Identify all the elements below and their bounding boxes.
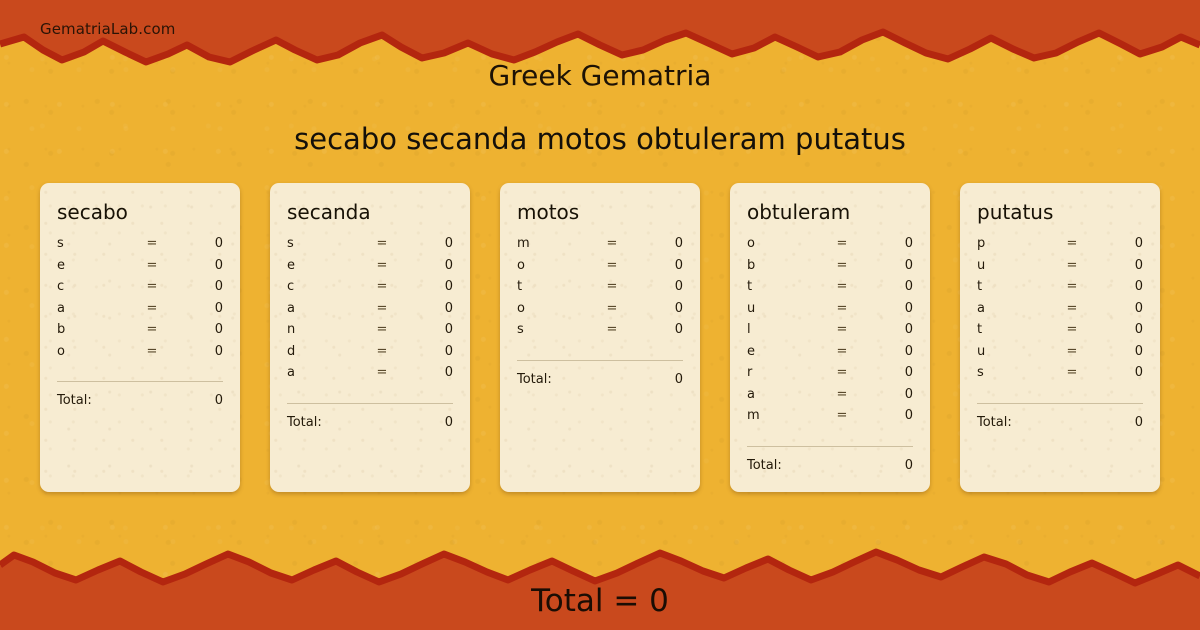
letter-label: m [517, 236, 595, 251]
letter-label: o [747, 236, 825, 251]
equals-sign: = [825, 365, 859, 380]
letter-label: s [977, 365, 1055, 380]
card-total-value: 0 [1135, 415, 1143, 430]
equals-sign: = [365, 301, 399, 316]
letter-label: n [287, 322, 365, 337]
letter-value: 0 [169, 322, 223, 337]
letter-value-row: d=0 [287, 344, 453, 366]
letter-label: l [747, 322, 825, 337]
letter-value-row: s=0 [57, 236, 223, 258]
letter-label: o [517, 301, 595, 316]
letter-value-row: p=0 [977, 236, 1143, 258]
letter-label: t [747, 279, 825, 294]
letter-label: o [517, 258, 595, 273]
letter-value-row: n=0 [287, 322, 453, 344]
letter-label: u [747, 301, 825, 316]
letter-value-row: o=0 [747, 236, 913, 258]
card-inner: putatusp=0u=0t=0a=0t=0u=0s=0Total:0 [977, 201, 1143, 430]
letter-label: t [977, 279, 1055, 294]
letter-label: a [57, 301, 135, 316]
card-total-label: Total: [287, 415, 322, 430]
page-title: Greek Gematria [0, 59, 1200, 92]
letter-value-row: a=0 [287, 365, 453, 387]
card-total-label: Total: [747, 458, 782, 473]
letter-value-row: a=0 [57, 301, 223, 323]
equals-sign: = [1055, 322, 1089, 337]
card-spacer [57, 365, 223, 373]
equals-sign: = [595, 279, 629, 294]
equals-sign: = [135, 344, 169, 359]
letter-value-rows: s=0e=0c=0a=0b=0o=0 [57, 236, 223, 365]
letter-value: 0 [859, 365, 913, 380]
letter-value-row: u=0 [977, 344, 1143, 366]
letter-label: e [57, 258, 135, 273]
letter-label: s [57, 236, 135, 251]
card-inner: secabos=0e=0c=0a=0b=0o=0Total:0 [57, 201, 223, 408]
letter-value: 0 [859, 408, 913, 423]
letter-value: 0 [1089, 236, 1143, 251]
equals-sign: = [1055, 258, 1089, 273]
letter-value: 0 [1089, 279, 1143, 294]
equals-sign: = [365, 344, 399, 359]
letter-value-row: m=0 [747, 408, 913, 430]
card-spacer [977, 387, 1143, 395]
equals-sign: = [825, 344, 859, 359]
letter-label: r [747, 365, 825, 380]
equals-sign: = [1055, 365, 1089, 380]
card-total-row: Total:0 [747, 447, 913, 473]
equals-sign: = [135, 236, 169, 251]
letter-label: t [977, 322, 1055, 337]
word-card: obtuleramo=0b=0t=0u=0l=0e=0r=0a=0m=0Tota… [730, 183, 930, 492]
letter-label: b [747, 258, 825, 273]
card-word-title: secanda [287, 201, 453, 223]
equals-sign: = [1055, 236, 1089, 251]
card-spacer [517, 344, 683, 352]
letter-label: e [747, 344, 825, 359]
letter-label: e [287, 258, 365, 273]
letter-label: t [517, 279, 595, 294]
letter-value: 0 [859, 258, 913, 273]
card-word-title: obtuleram [747, 201, 913, 223]
letter-label: c [287, 279, 365, 294]
card-spacer [287, 387, 453, 395]
word-card: secandas=0e=0c=0a=0n=0d=0a=0Total:0 [270, 183, 470, 492]
letter-value: 0 [1089, 258, 1143, 273]
letter-value-row: s=0 [977, 365, 1143, 387]
word-card-list: secabos=0e=0c=0a=0b=0o=0Total:0secandas=… [40, 183, 1160, 492]
equals-sign: = [825, 387, 859, 402]
letter-label: d [287, 344, 365, 359]
card-inner: obtuleramo=0b=0t=0u=0l=0e=0r=0a=0m=0Tota… [747, 201, 913, 473]
letter-value-row: t=0 [977, 322, 1143, 344]
card-word-title: motos [517, 201, 683, 223]
letter-value-row: a=0 [977, 301, 1143, 323]
letter-value: 0 [629, 322, 683, 337]
equals-sign: = [365, 236, 399, 251]
letter-value: 0 [859, 279, 913, 294]
letter-value: 0 [859, 301, 913, 316]
letter-label: b [57, 322, 135, 337]
equals-sign: = [595, 301, 629, 316]
card-word-title: secabo [57, 201, 223, 223]
letter-label: a [747, 387, 825, 402]
equals-sign: = [595, 258, 629, 273]
equals-sign: = [825, 301, 859, 316]
equals-sign: = [1055, 301, 1089, 316]
card-total-row: Total:0 [287, 404, 453, 430]
letter-value: 0 [399, 365, 453, 380]
letter-value-row: e=0 [57, 258, 223, 280]
card-total-label: Total: [977, 415, 1012, 430]
equals-sign: = [825, 279, 859, 294]
card-total-value: 0 [215, 393, 223, 408]
site-logo[interactable]: GematriaLab.com [40, 20, 175, 38]
letter-value-row: u=0 [977, 258, 1143, 280]
card-total-row: Total:0 [977, 404, 1143, 430]
equals-sign: = [825, 408, 859, 423]
letter-value-row: m=0 [517, 236, 683, 258]
equals-sign: = [1055, 344, 1089, 359]
letter-value: 0 [859, 236, 913, 251]
equals-sign: = [135, 322, 169, 337]
word-card: motosm=0o=0t=0o=0s=0Total:0 [500, 183, 700, 492]
card-total-label: Total: [517, 372, 552, 387]
letter-value: 0 [399, 322, 453, 337]
letter-value-row: c=0 [57, 279, 223, 301]
letter-value-row: o=0 [517, 301, 683, 323]
card-inner: secandas=0e=0c=0a=0n=0d=0a=0Total:0 [287, 201, 453, 430]
letter-value-row: b=0 [57, 322, 223, 344]
equals-sign: = [135, 279, 169, 294]
letter-value-row: a=0 [747, 387, 913, 409]
letter-value: 0 [169, 258, 223, 273]
letter-value: 0 [629, 236, 683, 251]
letter-value: 0 [859, 322, 913, 337]
letter-value: 0 [399, 279, 453, 294]
letter-value-row: o=0 [517, 258, 683, 280]
letter-value-rows: o=0b=0t=0u=0l=0e=0r=0a=0m=0 [747, 236, 913, 430]
grand-total: Total = 0 [0, 583, 1200, 619]
word-card: putatusp=0u=0t=0a=0t=0u=0s=0Total:0 [960, 183, 1160, 492]
letter-label: a [287, 365, 365, 380]
letter-value: 0 [1089, 344, 1143, 359]
letter-label: s [287, 236, 365, 251]
letter-value-rows: m=0o=0t=0o=0s=0 [517, 236, 683, 344]
card-total-value: 0 [445, 415, 453, 430]
equals-sign: = [1055, 279, 1089, 294]
equals-sign: = [365, 258, 399, 273]
letter-label: c [57, 279, 135, 294]
letter-value-row: e=0 [287, 258, 453, 280]
equals-sign: = [595, 322, 629, 337]
letter-label: o [57, 344, 135, 359]
letter-value-row: l=0 [747, 322, 913, 344]
letter-label: a [287, 301, 365, 316]
letter-label: p [977, 236, 1055, 251]
gematria-page: GematriaLab.com Greek Gematria secabo se… [0, 0, 1200, 630]
word-card: secabos=0e=0c=0a=0b=0o=0Total:0 [40, 183, 240, 492]
equals-sign: = [825, 322, 859, 337]
letter-value: 0 [1089, 365, 1143, 380]
letter-value: 0 [629, 258, 683, 273]
letter-value-rows: p=0u=0t=0a=0t=0u=0s=0 [977, 236, 1143, 387]
equals-sign: = [365, 322, 399, 337]
letter-value-row: t=0 [517, 279, 683, 301]
card-word-title: putatus [977, 201, 1143, 223]
letter-value-row: r=0 [747, 365, 913, 387]
equals-sign: = [365, 365, 399, 380]
card-total-label: Total: [57, 393, 92, 408]
letter-value-row: b=0 [747, 258, 913, 280]
letter-value: 0 [399, 301, 453, 316]
letter-value: 0 [629, 301, 683, 316]
letter-value-row: s=0 [517, 322, 683, 344]
letter-value: 0 [399, 344, 453, 359]
letter-label: u [977, 258, 1055, 273]
letter-value-row: a=0 [287, 301, 453, 323]
equals-sign: = [825, 236, 859, 251]
letter-label: s [517, 322, 595, 337]
letter-value: 0 [169, 301, 223, 316]
letter-value: 0 [859, 387, 913, 402]
letter-value-row: u=0 [747, 301, 913, 323]
letter-value: 0 [169, 279, 223, 294]
letter-value-row: c=0 [287, 279, 453, 301]
letter-value-row: t=0 [747, 279, 913, 301]
letter-value: 0 [629, 279, 683, 294]
equals-sign: = [135, 258, 169, 273]
card-total-value: 0 [675, 372, 683, 387]
letter-value: 0 [169, 344, 223, 359]
letter-value-rows: s=0e=0c=0a=0n=0d=0a=0 [287, 236, 453, 387]
letter-value: 0 [859, 344, 913, 359]
letter-value: 0 [399, 236, 453, 251]
card-total-value: 0 [905, 458, 913, 473]
letter-label: a [977, 301, 1055, 316]
letter-value: 0 [399, 258, 453, 273]
phrase-heading: secabo secanda motos obtuleram putatus [0, 122, 1200, 156]
card-total-row: Total:0 [57, 382, 223, 408]
letter-value-row: o=0 [57, 344, 223, 366]
equals-sign: = [365, 279, 399, 294]
equals-sign: = [595, 236, 629, 251]
letter-value: 0 [1089, 301, 1143, 316]
letter-value: 0 [169, 236, 223, 251]
letter-label: u [977, 344, 1055, 359]
equals-sign: = [135, 301, 169, 316]
card-inner: motosm=0o=0t=0o=0s=0Total:0 [517, 201, 683, 387]
letter-value-row: s=0 [287, 236, 453, 258]
letter-value: 0 [1089, 322, 1143, 337]
card-spacer [747, 430, 913, 438]
letter-value-row: e=0 [747, 344, 913, 366]
letter-value-row: t=0 [977, 279, 1143, 301]
letter-label: m [747, 408, 825, 423]
equals-sign: = [825, 258, 859, 273]
card-total-row: Total:0 [517, 361, 683, 387]
